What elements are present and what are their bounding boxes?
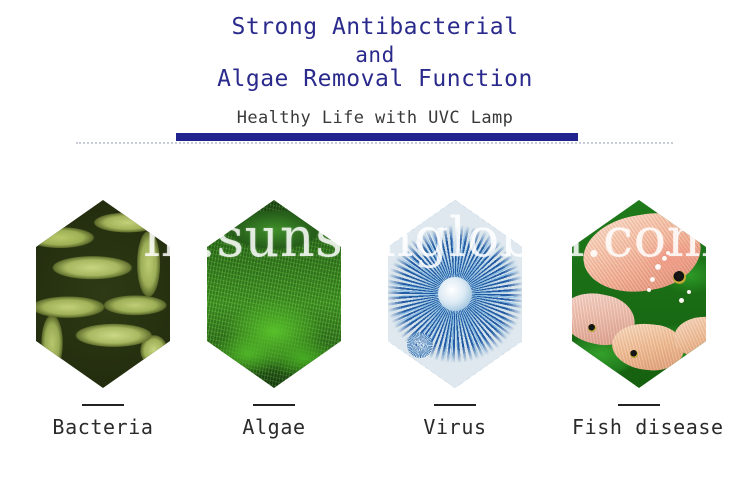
hexagon-clip-fish (572, 200, 706, 388)
product-feature-banner: Strong Antibacterial and Algae Removal F… (0, 0, 750, 489)
hexagon-label-row: Bacteria Algae Virus Fish disease (0, 404, 750, 454)
fish-primary-eye (673, 271, 686, 284)
hexagon-clip-bacteria (36, 200, 170, 388)
fish-secondary-bottom-eye (630, 350, 638, 358)
label-rule (82, 404, 124, 406)
fish-primary (578, 206, 706, 300)
headline-line-1: Strong Antibacterial (0, 13, 750, 41)
label-algae: Algae (207, 415, 341, 439)
hexagon-bacteria (36, 200, 170, 388)
label-rule (434, 404, 476, 406)
hexagon-clip-algae (207, 200, 341, 388)
headline-line-3: Algae Removal Function (0, 65, 750, 93)
divider-accent-bar (176, 133, 578, 141)
fish-secondary-bottom (610, 320, 686, 373)
hexagon-algae (207, 200, 341, 388)
hexagon-image-row (0, 200, 750, 390)
hexagon-fish-disease (572, 200, 706, 388)
label-rule (253, 404, 295, 406)
hexagon-clip-virus (388, 200, 522, 388)
virus-photo (388, 200, 522, 388)
bacteria-photo (36, 200, 170, 388)
ich-spot (655, 264, 661, 270)
label-cell-virus: Virus (388, 404, 522, 439)
label-cell-fish-disease: Fish disease (572, 404, 706, 439)
ich-spot (650, 277, 655, 282)
label-cell-bacteria: Bacteria (36, 404, 170, 439)
ich-spot (666, 251, 670, 255)
ich-spot (679, 298, 684, 303)
hexagon-virus (388, 200, 522, 388)
algae-photo (207, 200, 341, 388)
label-virus: Virus (388, 415, 522, 439)
label-cell-algae: Algae (207, 404, 341, 439)
label-fish-disease: Fish disease (572, 415, 706, 439)
ich-spot (687, 290, 691, 294)
label-bacteria: Bacteria (36, 415, 170, 439)
virus-secondary-particle (407, 332, 433, 358)
label-rule (618, 404, 660, 406)
fish-disease-photo (572, 200, 706, 388)
divider-dotted-line (76, 142, 673, 144)
ich-spot (647, 288, 651, 292)
virus-core (438, 277, 472, 311)
subheadline: Healthy Life with UVC Lamp (0, 108, 750, 128)
